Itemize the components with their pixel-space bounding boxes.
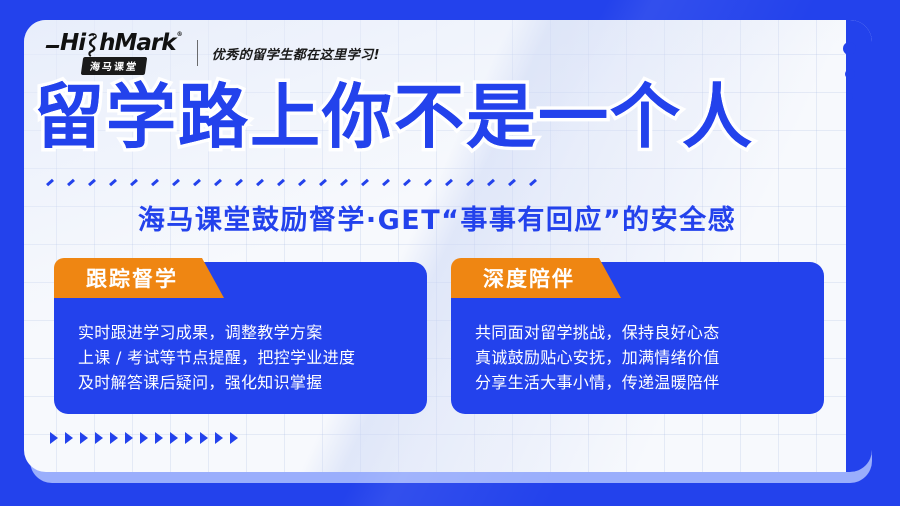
slash-tick-icon <box>46 178 54 186</box>
slash-tick-icon <box>88 178 96 186</box>
slash-tick-icon <box>487 178 495 186</box>
slash-tick-icon <box>109 178 117 186</box>
card-banner-tracking: 跟踪督学 <box>54 258 224 298</box>
slash-tick-icon <box>466 178 474 186</box>
slash-tick-icon <box>445 178 453 186</box>
dot-small-icon <box>846 93 853 100</box>
arrow-right-icon <box>50 432 58 444</box>
card-line: 实时跟进学习成果，调整教学方案 <box>78 320 405 345</box>
dot-medium-icon <box>845 69 855 79</box>
brand-tagline: 优秀的留学生都在这里学习! <box>212 44 380 63</box>
seahorse-icon <box>85 32 99 58</box>
card-line: 分享生活大事小情，传递温暖陪伴 <box>475 370 802 395</box>
poster-root: Hi hMark ® 海马课堂 优秀的留学生都在这里学习! 留学路上你不是一个人… <box>0 0 900 506</box>
slash-tick-icon <box>424 178 432 186</box>
slash-tick-icon <box>382 178 390 186</box>
slash-tick-icon <box>277 178 285 186</box>
highmark-logo: Hi hMark ® 海马课堂 <box>46 32 183 75</box>
arrow-right-icon <box>185 432 193 444</box>
logo-word-part2: hMark <box>99 32 175 55</box>
arrow-right-icon <box>140 432 148 444</box>
arrow-right-icon <box>155 432 163 444</box>
arrow-right-icon <box>65 432 73 444</box>
slash-tick-icon <box>298 178 306 186</box>
logo-chinese-name: 海马课堂 <box>81 57 148 75</box>
arrow-right-icon <box>80 432 88 444</box>
feature-cards: 跟踪督学 实时跟进学习成果，调整教学方案 上课 / 考试等节点提醒，把控学业进度… <box>54 262 824 414</box>
card-title: 深度陪伴 <box>483 263 575 293</box>
dot-large-icon <box>843 42 856 55</box>
slash-tick-icon <box>67 178 75 186</box>
slash-tick-icon <box>256 178 264 186</box>
feature-card-companionship: 深度陪伴 共同面对留学挑战，保持良好心态 真诚鼓励贴心安抚，加满情绪价值 分享生… <box>451 262 824 414</box>
card-title: 跟踪督学 <box>86 263 178 293</box>
arrow-right-icon <box>95 432 103 444</box>
card-banner-companionship: 深度陪伴 <box>451 258 621 298</box>
logo-wordmark: Hi hMark ® <box>46 32 183 55</box>
arrow-right-icon <box>110 432 118 444</box>
arrow-right-icon <box>125 432 133 444</box>
arrow-right-icon <box>230 432 238 444</box>
arrow-right-icon <box>215 432 223 444</box>
logo-trademark: ® <box>177 32 183 38</box>
card-line: 上课 / 考试等节点提醒，把控学业进度 <box>78 345 405 370</box>
slash-tick-icon <box>403 178 411 186</box>
slash-tick-icon <box>340 178 348 186</box>
arrow-decoration-row <box>50 432 238 444</box>
header-divider <box>197 40 198 66</box>
feature-card-tracking: 跟踪督学 实时跟进学习成果，调整教学方案 上课 / 考试等节点提醒，把控学业进度… <box>54 262 427 414</box>
page-subtitle: 海马课堂鼓励督学·GET“事事有回应”的安全感 <box>0 198 874 237</box>
slash-tick-icon <box>361 178 369 186</box>
brand-header: Hi hMark ® 海马课堂 优秀的留学生都在这里学习! <box>46 32 380 74</box>
arrow-right-icon <box>200 432 208 444</box>
slash-tick-icon <box>151 178 159 186</box>
arrow-right-icon <box>170 432 178 444</box>
card-line: 真诚鼓励贴心安抚，加满情绪价值 <box>475 345 802 370</box>
slash-tick-icon <box>193 178 201 186</box>
slash-tick-icon <box>130 178 138 186</box>
dot-decoration-group <box>843 42 856 100</box>
card-body-tracking: 实时跟进学习成果，调整教学方案 上课 / 考试等节点提醒，把控学业进度 及时解答… <box>54 308 427 395</box>
page-title: 留学路上你不是一个人 <box>34 78 834 156</box>
slash-tick-icon <box>319 178 327 186</box>
slash-tick-icon <box>235 178 243 186</box>
slash-tick-icon <box>529 178 537 186</box>
slash-tick-icon <box>172 178 180 186</box>
slash-tick-icon <box>214 178 222 186</box>
card-line: 及时解答课后疑问，强化知识掌握 <box>78 370 405 395</box>
card-line: 共同面对留学挑战，保持良好心态 <box>475 320 802 345</box>
card-body-companionship: 共同面对留学挑战，保持良好心态 真诚鼓励贴心安抚，加满情绪价值 分享生活大事小情… <box>451 308 824 395</box>
slash-divider <box>46 174 836 190</box>
logo-word-part1: Hi <box>60 32 85 55</box>
slash-tick-icon <box>508 178 516 186</box>
logo-dash-icon <box>46 45 60 48</box>
